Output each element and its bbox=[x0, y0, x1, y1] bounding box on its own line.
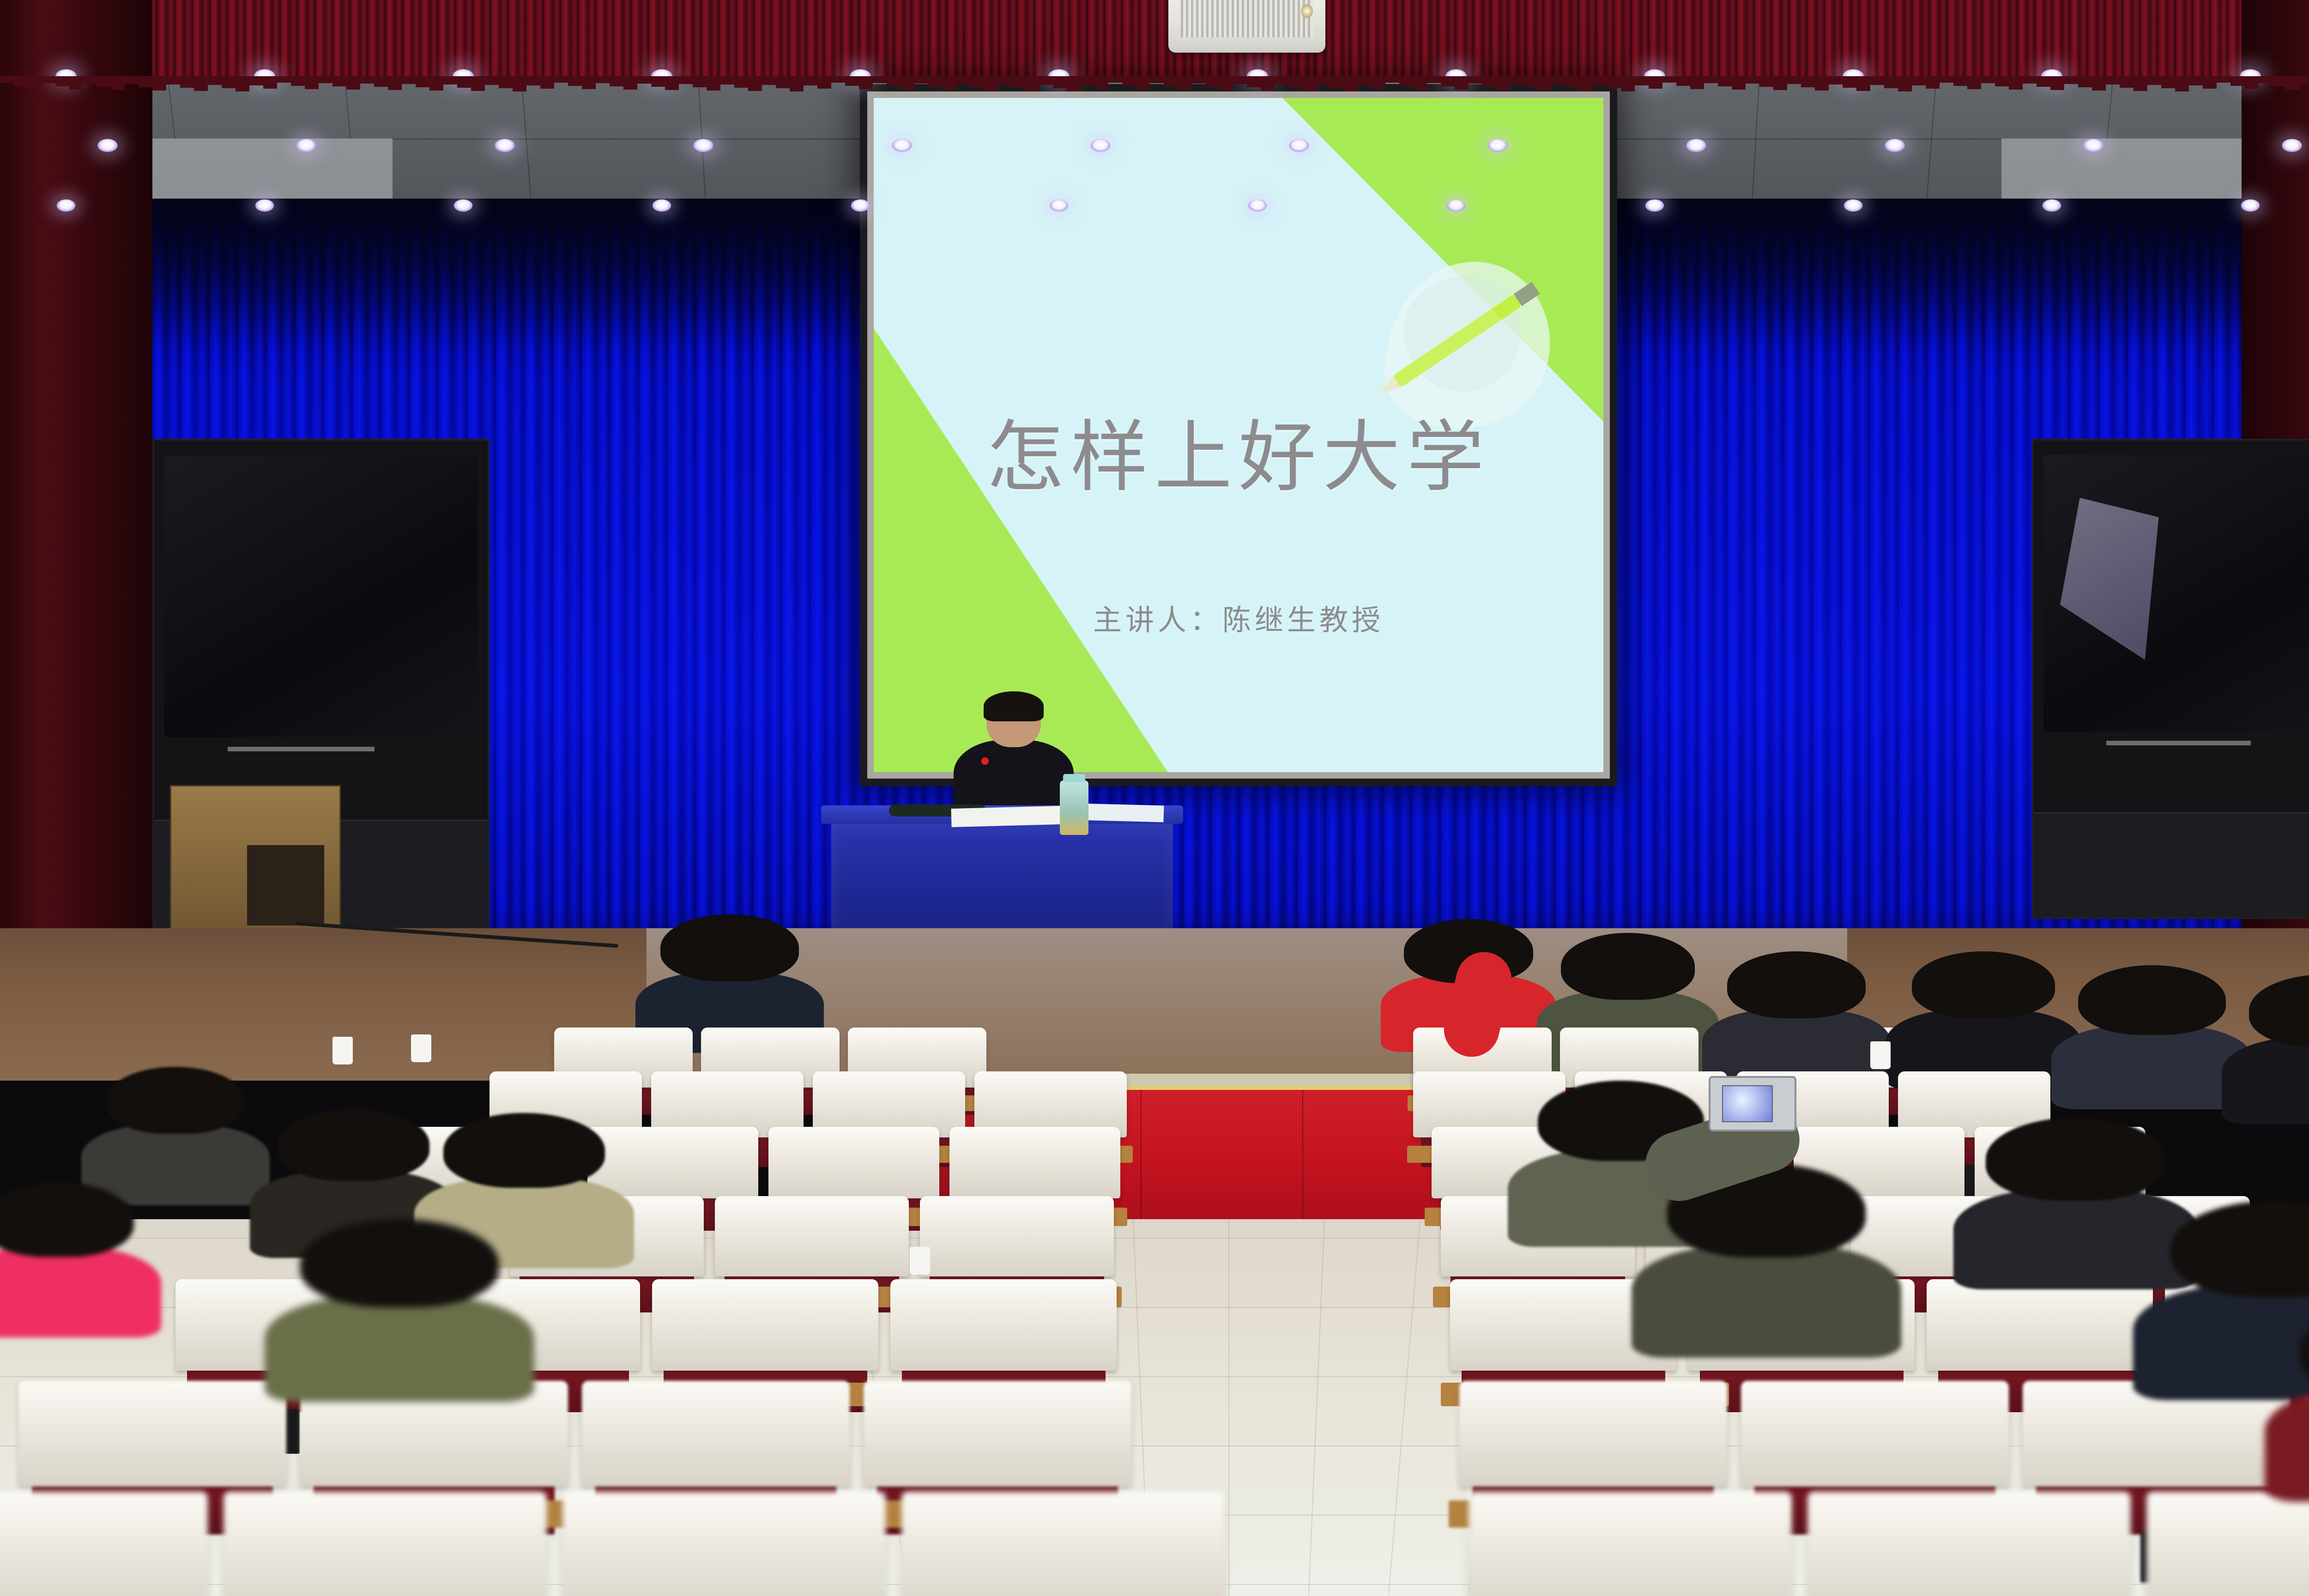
auditorium-seat[interactable] bbox=[2146, 1492, 2309, 1596]
audience-member bbox=[1727, 951, 1866, 1067]
ceiling-downlight bbox=[97, 139, 117, 152]
paper-cup bbox=[332, 1037, 353, 1064]
projection-screen: 怎样上好大学 主讲人：陈继生教授 bbox=[860, 84, 1617, 786]
ceiling-downlight bbox=[1645, 199, 1664, 212]
side-curtain-left bbox=[0, 0, 152, 1016]
audience-member bbox=[660, 914, 799, 1030]
ceiling-downlight bbox=[2241, 199, 2260, 212]
ceiling-downlight bbox=[255, 199, 274, 212]
ceiling-downlight bbox=[495, 139, 514, 152]
ceiling-downlight bbox=[1248, 199, 1267, 212]
ceiling-downlight bbox=[1447, 199, 1465, 212]
papers bbox=[951, 806, 1063, 827]
projection-tv-right bbox=[2032, 439, 2309, 919]
ceiling-downlight bbox=[1289, 139, 1309, 152]
ceiling-downlight bbox=[2043, 199, 2061, 212]
auditorium-seat[interactable] bbox=[901, 1492, 1225, 1596]
auditorium-scene: 怎样上好大学 主讲人：陈继生教授 bbox=[0, 0, 2309, 1596]
ceiling-downlight bbox=[1844, 199, 1862, 212]
ceiling-downlight bbox=[2083, 139, 2103, 152]
screen-bezel: 怎样上好大学 主讲人：陈继生教授 bbox=[867, 91, 1610, 779]
ceiling-downlight bbox=[892, 139, 912, 152]
presentation-slide: 怎样上好大学 主讲人：陈继生教授 bbox=[874, 98, 1603, 772]
ac-indicator-icon bbox=[1301, 4, 1313, 18]
audience-member bbox=[2300, 1302, 2309, 1469]
thermos-bottle bbox=[1060, 780, 1088, 835]
speaker-badge bbox=[981, 757, 989, 765]
ceiling-downlight bbox=[1686, 139, 1706, 152]
ceiling-downlight bbox=[2282, 139, 2302, 152]
ceiling-downlight bbox=[851, 199, 870, 212]
audience-member bbox=[1986, 1118, 2166, 1261]
ceiling-downlight bbox=[296, 139, 316, 152]
slide-subtitle: 主讲人：陈继生教授 bbox=[874, 597, 1603, 638]
ceiling-downlight bbox=[1487, 139, 1507, 152]
audience-member bbox=[277, 1108, 429, 1233]
ceiling-downlight bbox=[454, 199, 472, 212]
equipment-desk bbox=[170, 785, 341, 942]
audience-member bbox=[2170, 1201, 2309, 1367]
auditorium-seat[interactable] bbox=[1469, 1492, 1792, 1596]
audience-member bbox=[1912, 951, 2055, 1067]
audience-member bbox=[0, 1182, 134, 1312]
slide-title: 怎样上好大学 bbox=[874, 394, 1603, 507]
paper-cup bbox=[910, 1247, 930, 1275]
paper-cup bbox=[1870, 1041, 1891, 1069]
audience-member bbox=[106, 1067, 245, 1182]
red-valance-curtain bbox=[0, 0, 2309, 79]
audience-member bbox=[300, 1219, 499, 1372]
audience-member bbox=[2249, 974, 2309, 1099]
auditorium-seat[interactable] bbox=[1807, 1492, 2131, 1596]
documents bbox=[1076, 804, 1164, 822]
ceiling-downlight bbox=[1090, 139, 1110, 152]
air-conditioner-unit bbox=[1168, 0, 1325, 53]
ceiling-downlight bbox=[1885, 139, 1904, 152]
audience-camera bbox=[1709, 1076, 1796, 1131]
ceiling-downlight bbox=[653, 199, 671, 212]
auditorium-seat[interactable] bbox=[224, 1492, 547, 1596]
ceiling-downlight bbox=[1050, 199, 1068, 212]
speaker-person bbox=[951, 695, 1076, 820]
auditorium-seat[interactable] bbox=[0, 1492, 208, 1596]
auditorium-seat[interactable] bbox=[562, 1492, 886, 1596]
paper-cup bbox=[411, 1034, 431, 1062]
audience-member bbox=[2078, 965, 2226, 1085]
ceiling-downlight bbox=[57, 199, 75, 212]
ceiling-downlight bbox=[693, 139, 713, 152]
